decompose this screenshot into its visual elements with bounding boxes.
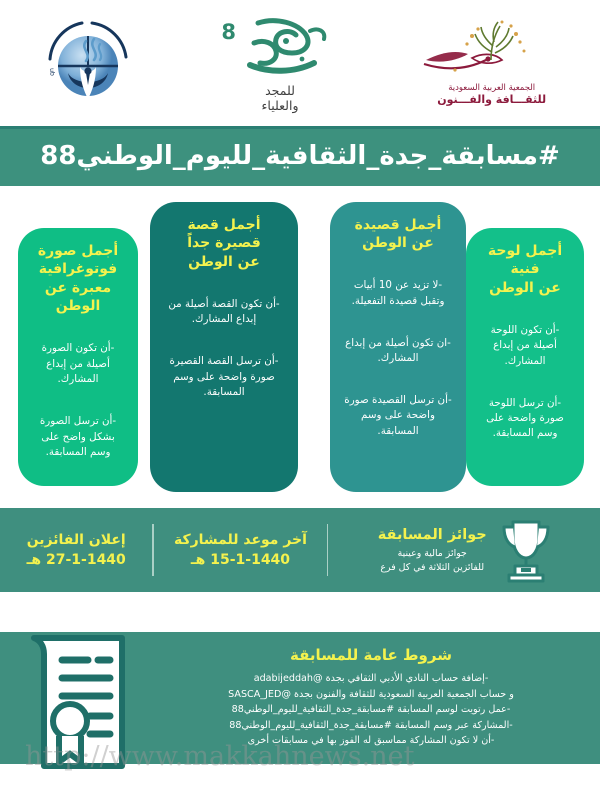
card-title-artwork: أجمل لوحة فنية عن الوطن bbox=[479, 242, 571, 297]
rule-item: -أن تكون اللوحة أصيلة من إبداع المشارك. bbox=[479, 323, 571, 369]
title-band-topline bbox=[0, 126, 600, 129]
rule-item: -أن ترسل القصيدة صورة واضحة على وسم المس… bbox=[343, 393, 453, 439]
card-rules-short-story: -أن تكون القصة أصيلة من إبداع المشارك. -… bbox=[163, 281, 285, 416]
conditions-title: شروط عامة للمسابقة bbox=[156, 646, 586, 664]
watermark: http://www.makkahnews.net bbox=[25, 741, 414, 772]
rule-item: -أن تكون الصورة أصيلة من إبداع المشارك. bbox=[31, 341, 125, 387]
rule-item: -ان تكون أصيلة من إبداع المشارك. bbox=[343, 336, 453, 367]
trophy-icon bbox=[495, 517, 557, 583]
sasca-label-line2: للثقـــافة والفـــنون bbox=[437, 94, 546, 107]
national-day-label-line1: للمجد bbox=[262, 84, 299, 98]
condition-item: -عمل رتويت لوسم المسابقة #مسابقة_جدة_الث… bbox=[156, 702, 586, 718]
title-band: #مسابقة_جدة_الثقافية_لليوم_الوطني88 bbox=[0, 126, 600, 186]
condition-item: -إضافة حساب النادي الأدبي الثقافي بجدة @… bbox=[156, 671, 586, 687]
card-title-poem: أجمل قصيدة عن الوطن bbox=[343, 216, 453, 253]
logo-sasca: الجمعية العربية السعودية للثقـــافة والف… bbox=[397, 20, 587, 106]
national-day-88-calligraphy-icon: 88 bbox=[220, 13, 340, 83]
deadline-title: آخر موعد للمشاركة bbox=[174, 532, 307, 548]
condition-item: -المشاركة عبر وسم المسابقة #مسابقة_جدة_ا… bbox=[156, 718, 586, 734]
page-title: #مسابقة_جدة_الثقافية_لليوم_الوطني88 bbox=[40, 141, 560, 171]
category-card-photo[interactable]: أجمل صورة فوتوغرافية معبرة عن الوطن -أن … bbox=[18, 228, 138, 486]
prizes-block: جوائز المسابقة جوائز مالية وعينية للفائز… bbox=[328, 508, 600, 592]
prize-divider-1 bbox=[327, 524, 329, 576]
prize-divider-2 bbox=[152, 524, 154, 576]
condition-item: و حساب الجمعية العربية السعودية للثقافة … bbox=[156, 687, 586, 703]
announcement-date: 27-1-1440 هـ bbox=[27, 552, 126, 568]
poster-root: الجمعية العربية السعودية للثقـــافة والف… bbox=[0, 0, 600, 792]
card-title-short-story: أجمل قصة قصيرة جداً عن الوطن bbox=[163, 216, 285, 271]
category-card-artwork[interactable]: أجمل لوحة فنية عن الوطن -أن تكون اللوحة … bbox=[466, 228, 584, 486]
deadline-block: آخر موعد للمشاركة 15-1-1440 هـ bbox=[154, 508, 326, 592]
rule-item: -أن ترسل اللوحة صورة واضحة على وسم المسا… bbox=[479, 396, 571, 442]
jeddah-club-emblem-icon: Jeddah Literary Cultural Club bbox=[36, 11, 140, 115]
category-cards: أجمل صورة فوتوغرافية معبرة عن الوطن -أن … bbox=[0, 186, 600, 496]
rule-item: -أن ترسل الصورة بشكل واضح على وسم المساب… bbox=[31, 414, 125, 460]
card-rules-photo: -أن تكون الصورة أصيلة من إبداع المشارك. … bbox=[31, 326, 125, 476]
conditions-content: شروط عامة للمسابقة -إضافة حساب النادي ال… bbox=[156, 646, 586, 749]
prizes-text: جوائز المسابقة جوائز مالية وعينية للفائز… bbox=[378, 526, 487, 574]
svg-text:Jeddah Literary Cultural Club: Jeddah Literary Cultural Club bbox=[36, 11, 56, 76]
announcement-block: إعلان الفائزين 27-1-1440 هـ bbox=[0, 508, 152, 592]
logo-jeddah-literary-cultural-club: Jeddah Literary Cultural Club bbox=[13, 11, 163, 115]
card-rules-poem: -لا تزيد عن 10 أبيات وتقبل قصيدة التفعيل… bbox=[343, 263, 453, 455]
rule-item: -أن ترسل القصة القصيرة صورة واضحة على وس… bbox=[163, 354, 285, 400]
logo-strip: الجمعية العربية السعودية للثقـــافة والف… bbox=[0, 0, 600, 126]
logo-national-day: 88 للمجد والعلياء bbox=[190, 13, 370, 113]
prizes-band: جوائز المسابقة جوائز مالية وعينية للفائز… bbox=[0, 508, 600, 592]
prizes-title: جوائز المسابقة bbox=[378, 526, 487, 544]
card-rules-artwork: -أن تكون اللوحة أصيلة من إبداع المشارك. … bbox=[479, 307, 571, 457]
sasca-emblem-icon bbox=[412, 20, 572, 82]
svg-text:88: 88 bbox=[220, 20, 236, 44]
national-day-label-line2: والعلياء bbox=[262, 99, 299, 113]
category-card-poem[interactable]: أجمل قصيدة عن الوطن -لا تزيد عن 10 أبيات… bbox=[330, 202, 466, 492]
rule-item: -أن تكون القصة أصيلة من إبداع المشارك. bbox=[163, 297, 285, 328]
announcement-title: إعلان الفائزين bbox=[27, 532, 126, 548]
category-card-short-story[interactable]: أجمل قصة قصيرة جداً عن الوطن -أن تكون ال… bbox=[150, 202, 298, 492]
card-title-photo: أجمل صورة فوتوغرافية معبرة عن الوطن bbox=[31, 242, 125, 316]
prizes-subtitle: جوائز مالية وعينية للفائزين الثلاثة في ك… bbox=[378, 547, 487, 574]
rule-item: -لا تزيد عن 10 أبيات وتقبل قصيدة التفعيل… bbox=[343, 278, 453, 309]
deadline-date: 15-1-1440 هـ bbox=[191, 552, 290, 568]
